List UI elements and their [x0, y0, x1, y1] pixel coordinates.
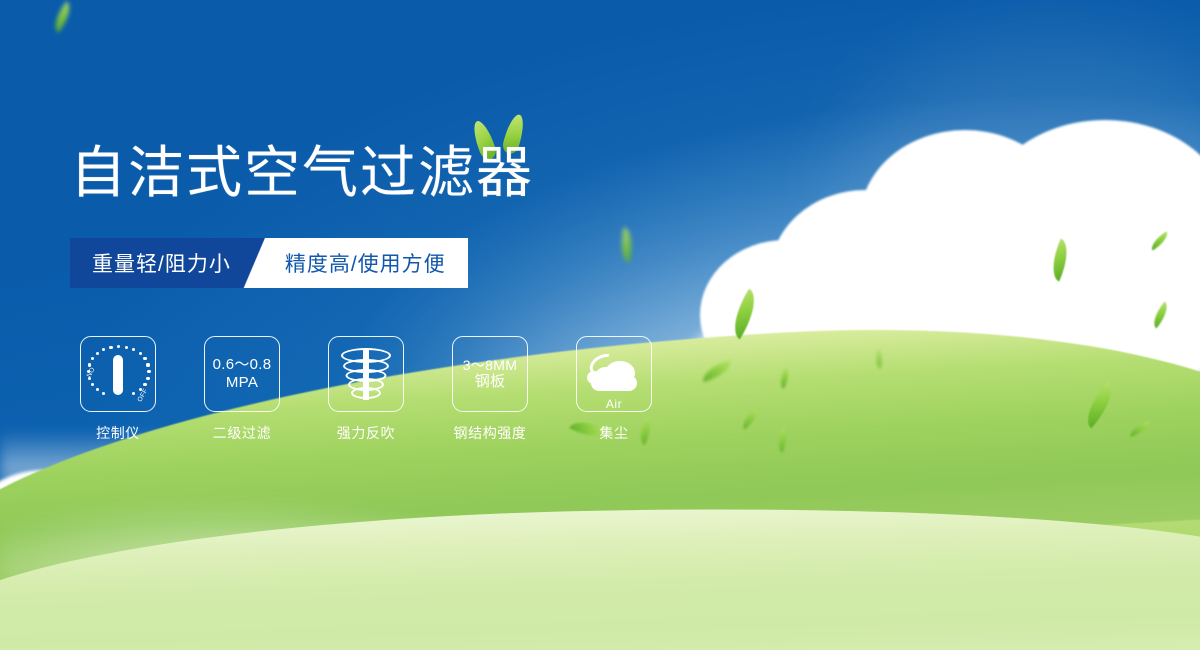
subtitle-bar: 重量轻/阻力小 精度高/使用方便 [70, 238, 468, 288]
feature-item-secondary-filter[interactable]: 0.6～0.8 MPA 二级过滤 [204, 336, 280, 443]
feature-label: 强力反吹 [337, 423, 395, 443]
page-title: 自洁式空气过滤器 [70, 145, 534, 201]
subtitle-left: 重量轻/阻力小 [70, 238, 251, 288]
banner-content: 自洁式空气过滤器 重量轻/阻力小 精度高/使用方便 [0, 0, 1200, 650]
dial-needle [113, 355, 123, 395]
pressure-text-icon: 0.6～0.8 [213, 356, 272, 374]
feature-icon-box: NO OFF [80, 336, 156, 412]
air-cloud-icon: Air [585, 353, 643, 397]
feature-icon-box: Air [576, 336, 652, 412]
control-dial-icon: NO OFF [87, 343, 149, 405]
cloud-base [591, 375, 637, 391]
feature-item-controller[interactable]: NO OFF 控制仪 [80, 336, 156, 443]
steel-plate-text-icon: 3～8MM [463, 357, 517, 374]
feature-label: 集尘 [599, 423, 628, 443]
steel-plate-subtext: 钢板 [475, 373, 506, 391]
banner-stage: 自洁式空气过滤器 重量轻/阻力小 精度高/使用方便 [0, 0, 1200, 650]
feature-icon-box: 0.6～0.8 MPA [204, 336, 280, 412]
feature-list: NO OFF 控制仪 0.6～0.8 MPA 二级过滤 [80, 336, 652, 443]
subtitle-right: 精度高/使用方便 [267, 238, 468, 288]
feature-item-blowback[interactable]: 强力反吹 [328, 336, 404, 443]
feature-label: 钢结构强度 [454, 423, 527, 443]
air-label: Air [585, 397, 643, 411]
feature-label: 控制仪 [96, 423, 140, 443]
blowback-coil-icon [339, 346, 393, 402]
pressure-unit-text: MPA [226, 374, 258, 392]
feature-label: 二级过滤 [213, 423, 271, 443]
feature-item-dust-collection[interactable]: Air 集尘 [576, 336, 652, 443]
feature-icon-box: 3～8MM 钢板 [452, 336, 528, 412]
feature-icon-box [328, 336, 404, 412]
feature-item-steel-strength[interactable]: 3～8MM 钢板 钢结构强度 [452, 336, 528, 443]
